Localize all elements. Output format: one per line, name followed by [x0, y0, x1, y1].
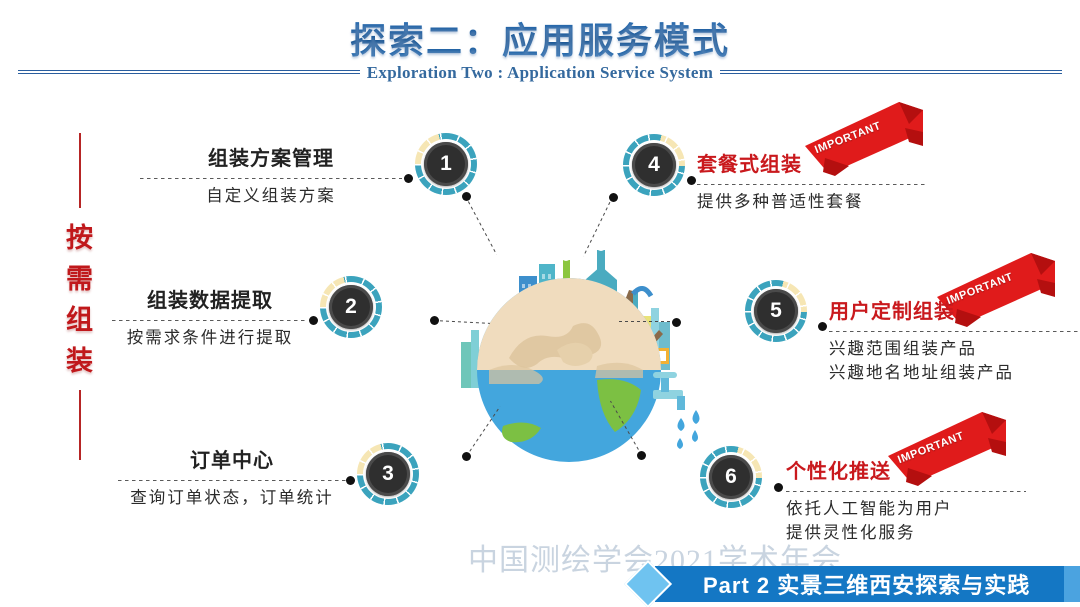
step-item-3: 订单中心 查询订单状态，订单统计 — [118, 444, 346, 510]
step-item-1: 组装方案管理 自定义组装方案 — [140, 142, 402, 208]
connector-dot — [462, 452, 471, 461]
step-badge-3[interactable]: 3 — [357, 443, 419, 505]
step-desc-line: 自定义组装方案 — [140, 184, 402, 208]
footer-bar-cap — [1064, 566, 1080, 602]
step-title: 订单中心 — [118, 444, 346, 473]
vertical-label-chars: 按 需 组 装 — [58, 208, 102, 390]
step-divider — [112, 320, 308, 321]
step-badge-4[interactable]: 4 — [623, 134, 685, 196]
connector-line-5 — [616, 321, 676, 322]
step-desc-line: 兴趣地名地址组装产品 — [829, 361, 1080, 385]
step-title: 个性化推送 — [786, 455, 1026, 484]
badge-number: 6 — [709, 455, 753, 499]
step-desc-line: 依托人工智能为用户 — [786, 497, 1026, 521]
vertical-label-rule-top — [79, 133, 81, 208]
footer-part-label: Part 2 实景三维西安探索与实践 — [703, 566, 1030, 602]
step-anchor-dot-2 — [309, 316, 318, 325]
vertical-label-char: 组 — [58, 300, 102, 341]
page-title: 探索二：应用服务模式 — [0, 12, 1080, 64]
step-item-6: 个性化推送 依托人工智能为用户 提供灵性化服务 — [786, 455, 1026, 545]
vertical-label-char: 装 — [58, 341, 102, 382]
badge-number: 3 — [366, 452, 410, 496]
vertical-section-label: 按 需 组 装 — [58, 133, 102, 460]
water-drop-icon — [686, 408, 712, 448]
step-anchor-dot-4 — [687, 176, 696, 185]
footer-bar: Part 2 实景三维西安探索与实践 — [655, 566, 1080, 602]
step-anchor-dot-5 — [818, 322, 827, 331]
step-title: 组装数据提取 — [112, 284, 308, 313]
step-item-2: 组装数据提取 按需求条件进行提取 — [112, 284, 308, 350]
step-badge-2[interactable]: 2 — [320, 276, 382, 338]
step-anchor-dot-6 — [774, 483, 783, 492]
step-divider — [829, 331, 1080, 332]
slide-canvas: 探索二：应用服务模式 Exploration Two : Application… — [0, 0, 1080, 607]
connector-dot — [430, 316, 439, 325]
step-badge-1[interactable]: 1 — [415, 133, 477, 195]
connector-dot — [637, 451, 646, 460]
step-divider — [697, 184, 927, 185]
vertical-label-char: 按 — [58, 218, 102, 259]
connector-dot — [672, 318, 681, 327]
page-subtitle: Exploration Two : Application Service Sy… — [0, 63, 1080, 83]
step-badge-5[interactable]: 5 — [745, 280, 807, 342]
badge-number: 4 — [632, 143, 676, 187]
step-title: 组装方案管理 — [140, 142, 402, 171]
vertical-label-char: 需 — [58, 259, 102, 300]
connector-dot — [609, 193, 618, 202]
step-title: 套餐式组装 — [697, 148, 927, 177]
badge-number: 1 — [424, 142, 468, 186]
step-divider — [140, 178, 402, 179]
step-badge-6[interactable]: 6 — [700, 446, 762, 508]
step-title: 用户定制组装 — [829, 295, 1080, 324]
step-desc-line: 提供多种普适性套餐 — [697, 190, 927, 214]
step-anchor-dot-1 — [404, 174, 413, 183]
step-divider — [118, 480, 346, 481]
globe-city-illustration — [447, 230, 692, 475]
step-item-4: 套餐式组装 提供多种普适性套餐 — [697, 148, 927, 214]
step-item-5: 用户定制组装 兴趣范围组装产品 兴趣地名地址组装产品 — [829, 295, 1080, 385]
step-desc-line: 兴趣范围组装产品 — [829, 337, 1080, 361]
vertical-label-rule-bottom — [79, 390, 81, 460]
step-desc-line: 按需求条件进行提取 — [112, 326, 308, 350]
badge-number: 5 — [754, 289, 798, 333]
step-divider — [786, 491, 1026, 492]
badge-number: 2 — [329, 285, 373, 329]
step-desc-line: 查询订单状态，订单统计 — [118, 486, 346, 510]
step-anchor-dot-3 — [346, 476, 355, 485]
